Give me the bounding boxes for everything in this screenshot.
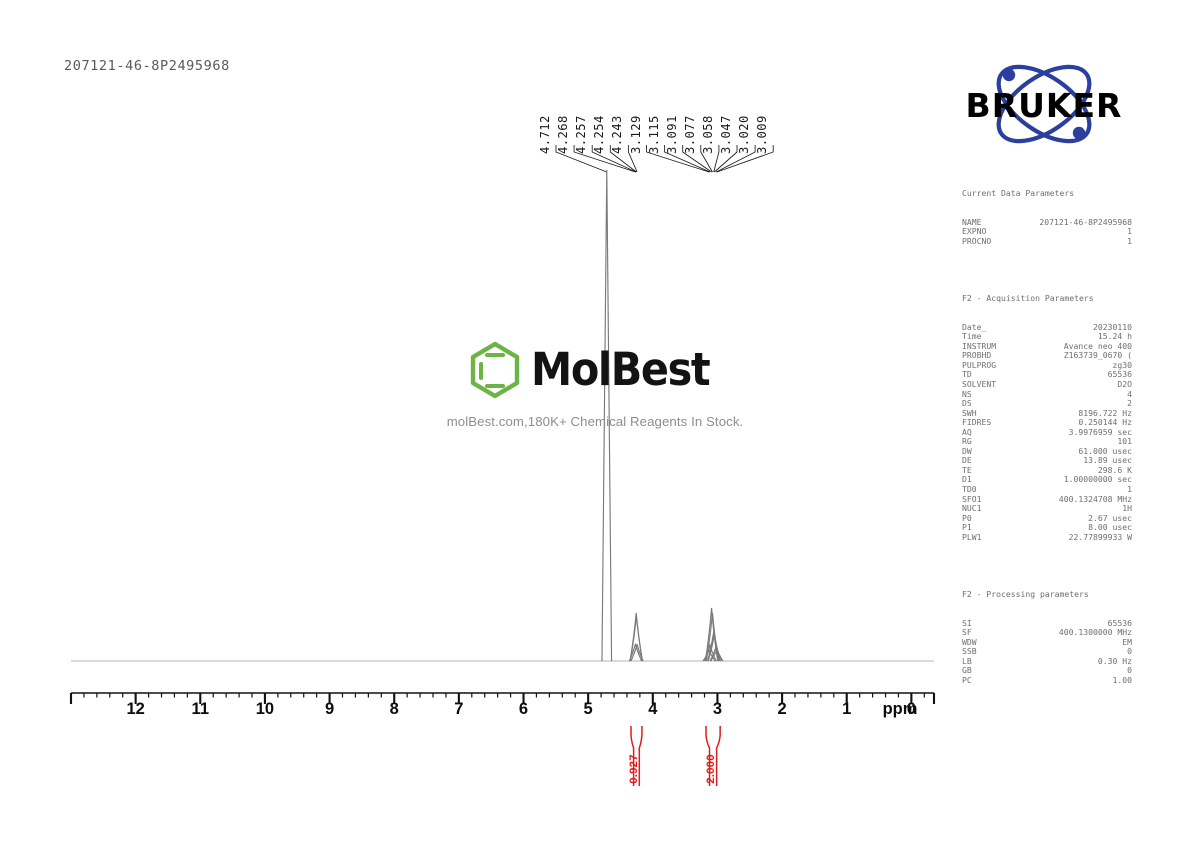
peak-dropline	[556, 145, 607, 172]
peak-dropline	[714, 145, 719, 172]
axis-tick-label: 6	[519, 700, 528, 719]
axis-tick-label: 1	[842, 700, 851, 719]
axis-tick-label: 5	[584, 700, 593, 719]
peak-dropline	[647, 145, 710, 172]
peak-dropline	[592, 145, 636, 172]
spectrum-trace	[71, 170, 934, 661]
peak-dropline	[714, 145, 737, 172]
axis-tick-label: 9	[325, 700, 334, 719]
peak-droplines	[556, 145, 773, 172]
peak-dropline	[628, 145, 637, 172]
axis-tick-label: 2	[777, 700, 786, 719]
nmr-spectrum-page: 207121-46-8P2495968 BRUKER Current Data …	[0, 0, 1190, 842]
peak-dropline	[717, 145, 773, 172]
axis-tick-label: 11	[192, 700, 209, 719]
axis-tick-label: 8	[390, 700, 399, 719]
axis-tick-label: 7	[454, 700, 463, 719]
spectrum-trace-svg	[0, 0, 1190, 700]
integral-group: 0.927	[630, 726, 643, 788]
peak-dropline	[716, 145, 755, 172]
axis-tick-label: 12	[126, 700, 144, 719]
integral-value: 2.000	[705, 754, 717, 784]
peak-dropline	[701, 145, 713, 172]
axis-tick-label: 3	[713, 700, 722, 719]
axis-tick-label: 0	[907, 700, 916, 719]
integral-value: 0.927	[628, 754, 640, 784]
peak-dropline	[665, 145, 710, 172]
spectrum-plot	[0, 0, 1190, 700]
integral-layer: 0.9272.000	[0, 726, 1190, 796]
spectrum-peak	[602, 170, 612, 661]
integral-bracket-edge	[716, 726, 720, 786]
axis-tick-label: 10	[256, 700, 274, 719]
axis-tick-label: 4	[648, 700, 657, 719]
integral-group: 2.000	[705, 726, 721, 788]
